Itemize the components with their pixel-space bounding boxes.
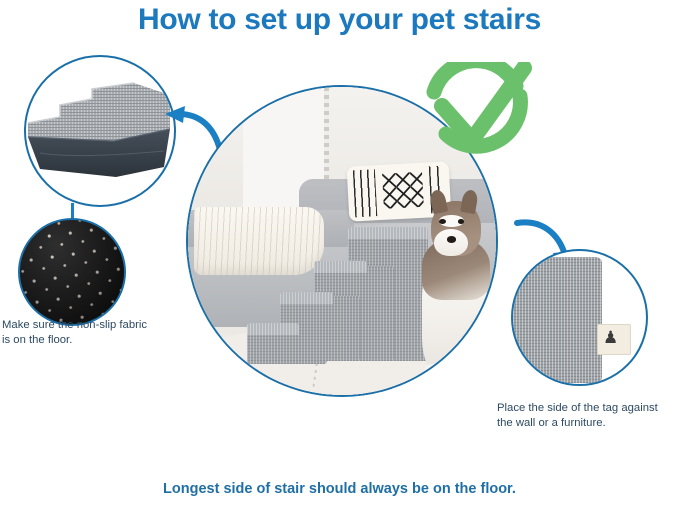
fabric-sheen — [20, 220, 124, 324]
inverted-stairs-callout — [24, 55, 176, 207]
throw-blanket — [194, 207, 323, 275]
caption-non-slip-line1: Make sure the non-slip fabric — [2, 318, 192, 333]
page-title: How to set up your pet stairs — [0, 3, 679, 37]
pillow-stripes-left — [353, 170, 378, 218]
curtain-cord — [324, 87, 329, 189]
pillow-zigzag — [382, 172, 424, 210]
dog-muzzle — [434, 229, 468, 257]
caption-tag: Place the side of the tag against the wa… — [497, 401, 677, 431]
footer-caption: Longest side of stair should always be o… — [0, 481, 679, 497]
inverted-stairs-illustration — [24, 79, 176, 191]
caption-non-slip: Make sure the non-slip fabric is on the … — [2, 318, 192, 348]
dog-nose — [447, 236, 456, 242]
caption-tag-line2: the wall or a furniture. — [497, 416, 677, 431]
infographic-canvas: How to set up your pet stairs — [0, 0, 679, 507]
throw-blanket-texture — [194, 207, 323, 275]
tag-side-callout: ♟ — [511, 249, 648, 386]
stair-tread-1 — [247, 323, 299, 335]
stair-tread-2 — [280, 292, 332, 304]
tag-logo-glyph: ♟ — [603, 329, 618, 346]
green-check-icon — [420, 62, 536, 162]
caption-non-slip-line2: is on the floor. — [2, 333, 192, 348]
stair-tread-4 — [348, 227, 428, 239]
dog-paw-right — [450, 367, 468, 379]
stair-tread-3 — [314, 261, 366, 273]
caption-tag-line1: Place the side of the tag against — [497, 401, 677, 416]
dog-paw-left — [425, 364, 443, 376]
connector-elbow — [73, 205, 93, 207]
non-slip-fabric-swatch — [18, 218, 126, 326]
stair-side-fabric — [511, 257, 602, 383]
